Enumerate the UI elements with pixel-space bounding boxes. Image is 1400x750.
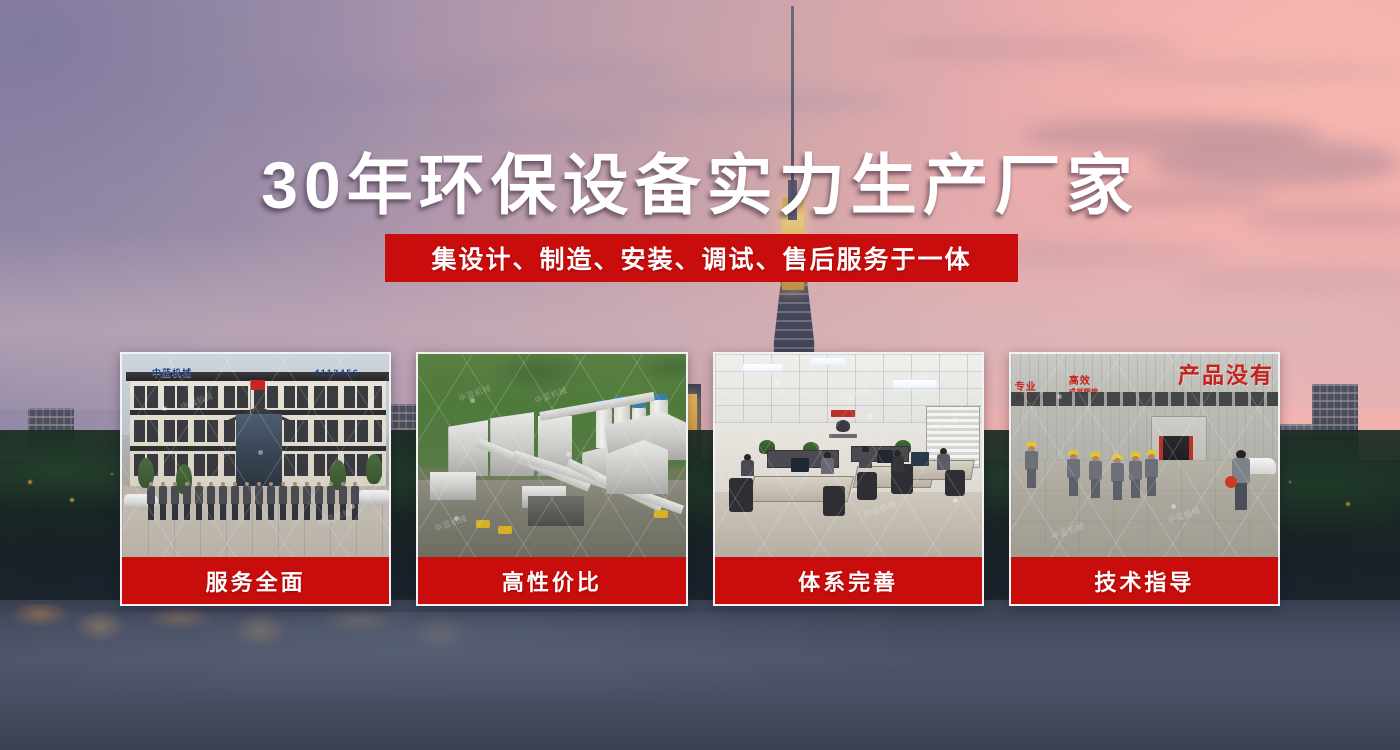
cloud — [600, 88, 900, 114]
cloud — [1100, 62, 1400, 82]
office-interior-photo: 中蓝机械 中蓝机械 中蓝机械 — [715, 354, 982, 557]
feature-card[interactable]: 产品没有 专业 铸就品质 高效 成就辉煌 — [1009, 352, 1280, 606]
company-headquarters-photo: 中蓝机械 4113456 — [122, 354, 389, 557]
promo-banner: 30年环保设备实力生产厂家 集设计、制造、安装、调试、售后服务于一体 — [0, 0, 1400, 750]
cloud — [150, 78, 510, 108]
building-sign-phone: 4113456 — [314, 368, 359, 378]
feature-card-list: 中蓝机械 4113456 — [120, 352, 1280, 606]
feature-card[interactable]: 中蓝机械 中蓝机械 中蓝机械 高性价比 — [416, 352, 687, 606]
card-label-text: 高性价比 — [502, 565, 602, 597]
workers-training-photo: 产品没有 专业 铸就品质 高效 成就辉煌 — [1011, 354, 1278, 557]
card-label-text: 服务全面 — [206, 565, 306, 597]
card-label-text: 体系完善 — [798, 565, 898, 597]
card-label-text: 技术指导 — [1094, 565, 1194, 597]
subtitle-text: 集设计、制造、安装、调试、售后服务于一体 — [431, 240, 971, 276]
aerial-industrial-plant-photo: 中蓝机械 中蓝机械 中蓝机械 — [418, 354, 685, 557]
card-label-bar: 高性价比 — [418, 557, 685, 604]
factory-slogan-big: 专业 — [1015, 378, 1045, 393]
subtitle-bar: 集设计、制造、安装、调试、售后服务于一体 — [385, 234, 1018, 282]
page-title: 30年环保设备实力生产厂家 — [0, 132, 1400, 228]
feature-card[interactable]: 中蓝机械 4113456 — [120, 352, 391, 606]
building-sign-company: 中蓝机械 — [152, 366, 192, 379]
card-label-bar: 技术指导 — [1011, 557, 1278, 604]
card-label-bar: 服务全面 — [122, 557, 389, 604]
feature-card[interactable]: 中蓝机械 中蓝机械 中蓝机械 体系完善 — [713, 352, 984, 606]
factory-slogan-big: 高效 — [1069, 372, 1099, 387]
office-wall-logo — [823, 410, 863, 440]
river-glow — [0, 612, 1400, 732]
cloud — [880, 36, 1180, 60]
factory-wall-headline: 产品没有 — [1178, 358, 1274, 390]
card-label-bar: 体系完善 — [715, 557, 982, 604]
cloud — [430, 60, 690, 80]
